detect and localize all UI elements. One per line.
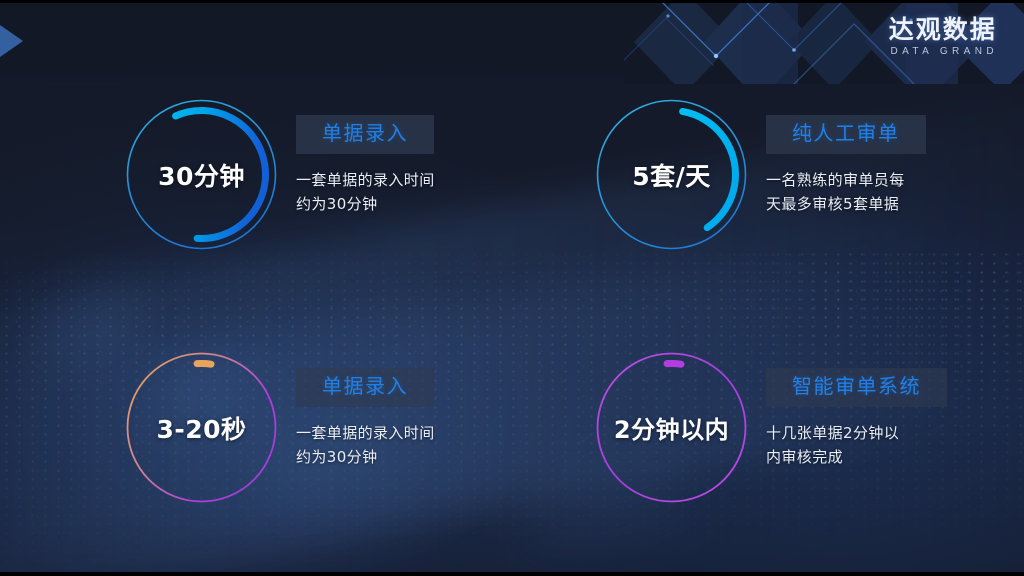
stat-description-manual-review-rate: 一名熟练的审单员每 天最多审核5套单据 [766, 168, 926, 217]
stat-card-manual-review-rate: 5套/天 纯人工审单 一名熟练的审单员每 天最多审核5套单据 [594, 97, 944, 257]
stat-value-manual-entry-time: 30分钟 [124, 97, 279, 252]
stat-text-auto-review-time: 智能审单系统 十几张单据2分钟以 内审核完成 [766, 368, 947, 470]
letterbox-bottom [0, 572, 1024, 576]
stat-description-manual-entry-time: 一套单据的录入时间 约为30分钟 [296, 168, 435, 217]
stat-description-auto-entry-time: 一套单据的录入时间 约为30分钟 [296, 421, 435, 470]
stat-card-manual-entry-time: 30分钟 单据录入 一套单据的录入时间 约为30分钟 [124, 97, 464, 257]
left-arrow-marker [0, 25, 23, 57]
stat-text-manual-review-rate: 纯人工审单 一名熟练的审单员每 天最多审核5套单据 [766, 115, 926, 217]
stat-label-chip-auto-entry-time: 单据录入 [296, 368, 434, 407]
slide-canvas: 达观数据 DATA GRAND [0, 0, 1024, 576]
stat-text-manual-entry-time: 单据录入 一套单据的录入时间 约为30分钟 [296, 115, 435, 217]
stat-value-auto-review-time: 2分钟以内 [594, 350, 749, 505]
stat-label-chip-manual-entry-time: 单据录入 [296, 115, 434, 154]
brand-name-en: DATA GRAND [887, 46, 998, 57]
stat-value-auto-entry-time: 3-20秒 [124, 350, 279, 505]
stat-label-chip-auto-review-time: 智能审单系统 [766, 368, 947, 407]
stat-label-chip-manual-review-rate: 纯人工审单 [766, 115, 926, 154]
stat-card-auto-review-time: 2分钟以内 智能审单系统 十几张单据2分钟以 内审核完成 [594, 350, 944, 510]
brand-logo: 达观数据 DATA GRAND [887, 17, 998, 57]
stat-card-auto-entry-time: 3-20秒 单据录入 一套单据的录入时间 约为30分钟 [124, 350, 464, 510]
stat-description-auto-review-time: 十几张单据2分钟以 内审核完成 [766, 421, 947, 470]
stat-text-auto-entry-time: 单据录入 一套单据的录入时间 约为30分钟 [296, 368, 435, 470]
brand-name-cn: 达观数据 [887, 17, 998, 43]
stat-value-manual-review-rate: 5套/天 [594, 97, 749, 252]
letterbox-top [0, 0, 1024, 3]
